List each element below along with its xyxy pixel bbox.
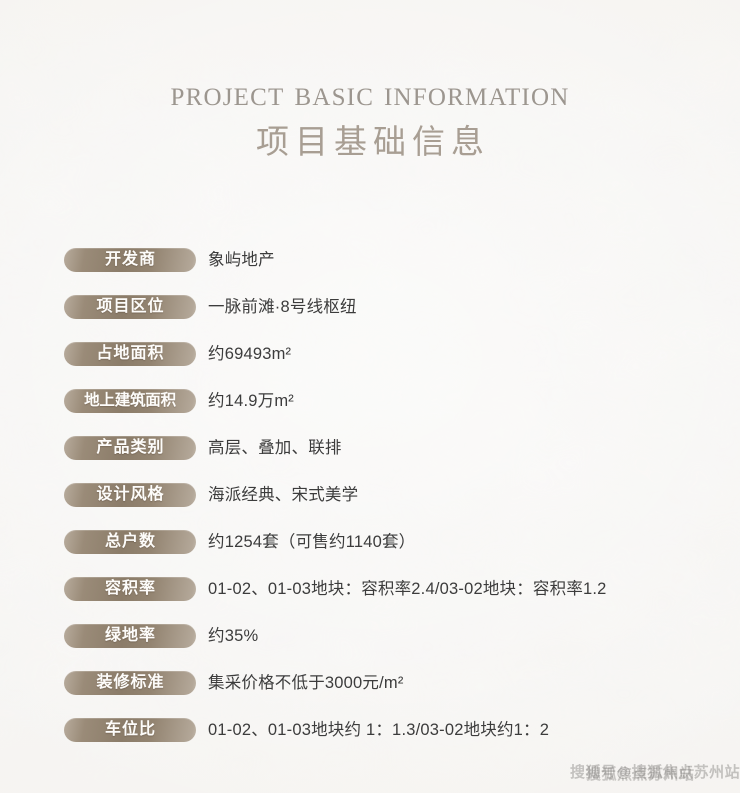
row-label-badge: 车位比 — [64, 718, 196, 742]
row-value-text: 海派经典、宋式美学 — [208, 483, 740, 507]
row-label-text: 绿地率 — [104, 627, 156, 645]
row-label-text: 开发商 — [104, 251, 156, 269]
row-value-text: 约35% — [208, 624, 740, 648]
row-label-text: 容积率 — [104, 580, 156, 598]
row-label-text: 地上建筑面积 — [84, 392, 176, 410]
row-label-badge: 设计风格 — [64, 483, 196, 507]
row-value-text: 01-02、01-03地块约 1：1.3/03-02地块约1：2 — [208, 718, 740, 742]
project-info-table: 开发商 象屿地产 项目区位 一脉前滩·8号线枢纽 占地面积 约69493m² 地… — [0, 248, 740, 765]
row-label-text: 占地面积 — [95, 345, 164, 363]
row-label-badge: 地上建筑面积 — [64, 389, 196, 413]
page-header: Project Basic Information 项目基础信息 — [0, 74, 740, 163]
row-value-text: 约14.9万m² — [208, 389, 740, 413]
table-row: 设计风格 海派经典、宋式美学 — [0, 483, 740, 530]
row-label-text: 车位比 — [104, 721, 156, 739]
watermark-secondary: 搜狐焦点苏州站 — [586, 766, 695, 784]
table-row: 开发商 象屿地产 — [0, 248, 740, 295]
table-row: 总户数 约1254套（可售约1140套） — [0, 530, 740, 577]
row-label-text: 设计风格 — [95, 486, 164, 504]
row-label-text: 项目区位 — [95, 298, 164, 316]
row-value-text: 约69493m² — [208, 342, 740, 366]
table-row: 车位比 01-02、01-03地块约 1：1.3/03-02地块约1：2 — [0, 718, 740, 765]
page-title-chinese: 项目基础信息 — [0, 123, 740, 163]
row-label-badge: 占地面积 — [64, 342, 196, 366]
row-value-text: 高层、叠加、联排 — [208, 436, 740, 460]
table-row: 项目区位 一脉前滩·8号线枢纽 — [0, 295, 740, 342]
row-value-text: 一脉前滩·8号线枢纽 — [208, 295, 740, 319]
page-title-english: Project Basic Information — [0, 74, 740, 114]
row-label-text: 产品类别 — [95, 439, 164, 457]
row-value-text: 约1254套（可售约1140套） — [208, 530, 740, 554]
row-label-badge: 绿地率 — [64, 624, 196, 648]
row-label-badge: 项目区位 — [64, 295, 196, 319]
table-row: 装修标准 集采价格不低于3000元/m² — [0, 671, 740, 718]
row-label-badge: 容积率 — [64, 577, 196, 601]
row-label-badge: 产品类别 — [64, 436, 196, 460]
row-label-text: 装修标准 — [95, 674, 164, 692]
row-value-text: 集采价格不低于3000元/m² — [208, 671, 740, 695]
row-value-text: 01-02、01-03地块：容积率2.4/03-02地块：容积率1.2 — [208, 577, 740, 601]
row-value-text: 象屿地产 — [208, 248, 740, 272]
row-label-badge: 总户数 — [64, 530, 196, 554]
table-row: 产品类别 高层、叠加、联排 — [0, 436, 740, 483]
row-label-text: 总户数 — [104, 533, 156, 551]
row-label-badge: 开发商 — [64, 248, 196, 272]
table-row: 占地面积 约69493m² — [0, 342, 740, 389]
row-label-badge: 装修标准 — [64, 671, 196, 695]
table-row: 地上建筑面积 约14.9万m² — [0, 389, 740, 436]
page-root: Project Basic Information 项目基础信息 开发商 象屿地… — [0, 0, 740, 793]
table-row: 容积率 01-02、01-03地块：容积率2.4/03-02地块：容积率1.2 — [0, 577, 740, 624]
table-row: 绿地率 约35% — [0, 624, 740, 671]
